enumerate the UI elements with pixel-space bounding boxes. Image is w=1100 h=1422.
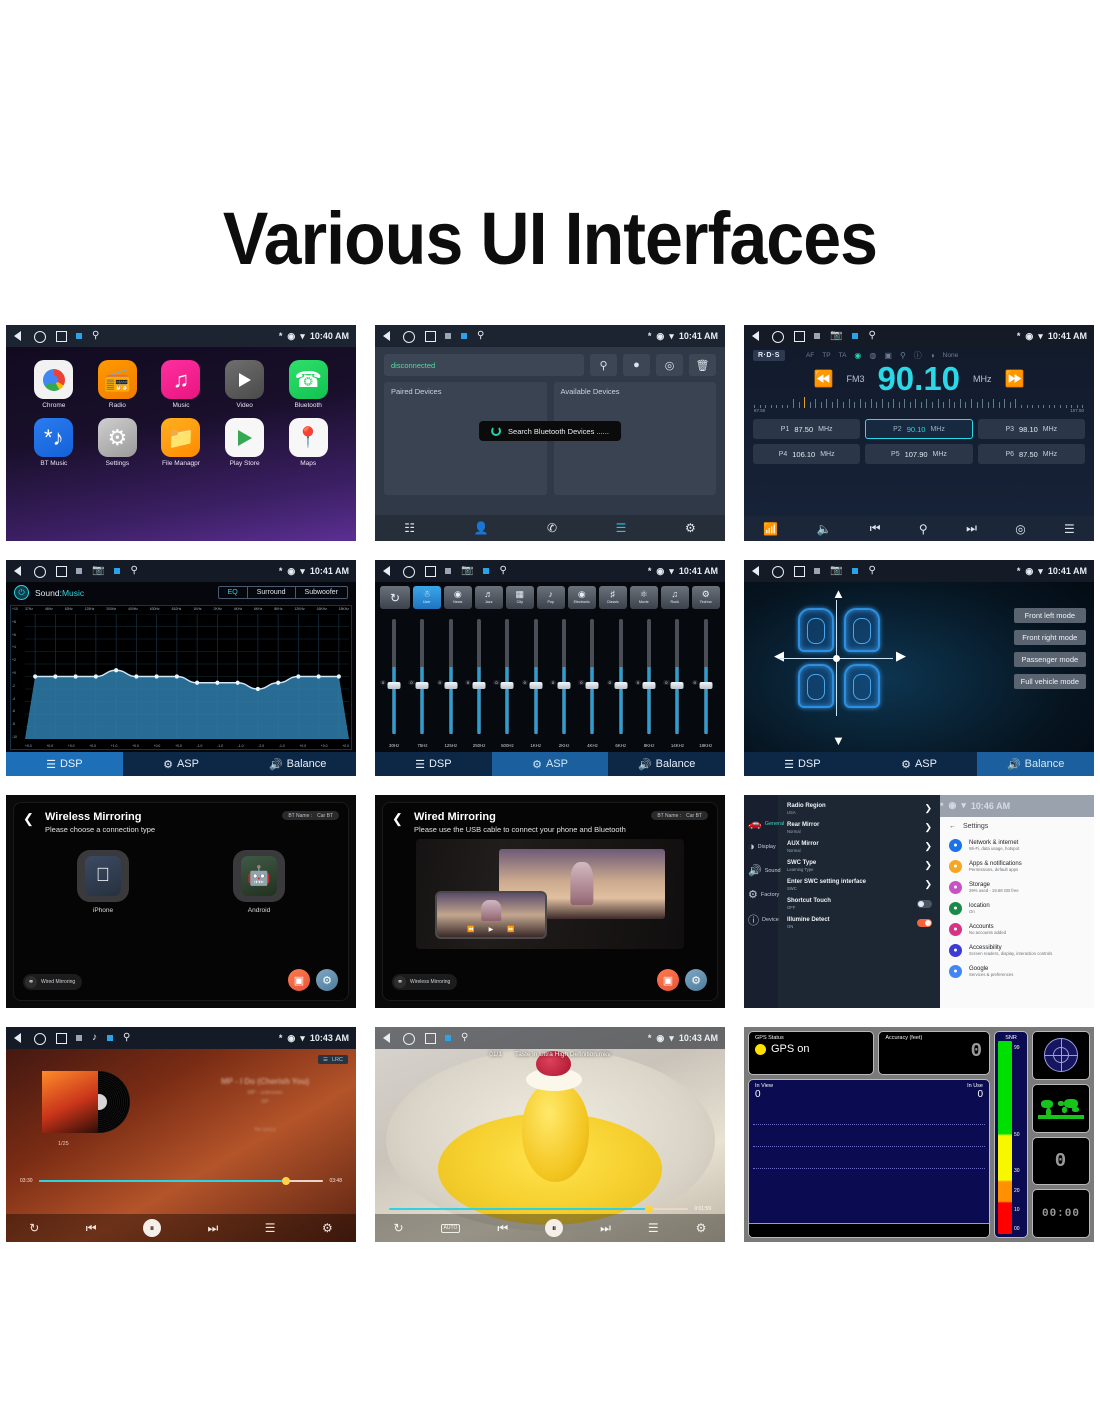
eq-curve-chart[interactable]: +10+8+6+4+2+0-2-4-6-8-10 37Hz46Hz63Hz125… — [10, 605, 352, 750]
switch-to-wireless-chip[interactable]: ⚭ Wireless Mirroring — [392, 974, 457, 990]
home-icon[interactable] — [772, 331, 783, 342]
app-bt-music[interactable]: *♪ BT Music — [22, 418, 86, 467]
bt-music-icon[interactable]: ☰ — [616, 521, 627, 535]
sound-tabbar[interactable]: ☰DSP ⚙ASP 🔊Balance — [6, 752, 356, 776]
tuning-dial[interactable]: 87.50 107.50 — [754, 397, 1084, 416]
android-settings-item[interactable]: ●AccessibilityScreen readers, display, i… — [940, 940, 1094, 961]
seat-rear-left[interactable] — [798, 664, 834, 708]
preset-p6[interactable]: P6 87.50 MHz — [978, 444, 1085, 464]
recents-icon[interactable] — [55, 331, 66, 342]
music-seek-bar[interactable]: 03:30 03:48 — [6, 1178, 356, 1184]
settings-gear-icon[interactable]: ⚙ — [316, 969, 338, 991]
playlist-icon[interactable]: ☰ — [265, 1221, 276, 1235]
home-icon[interactable] — [34, 1033, 45, 1044]
preset-p3[interactable]: P3 98.10 MHz — [978, 419, 1085, 439]
gps-status-value: GPS on — [771, 1043, 810, 1055]
recents-icon[interactable] — [424, 566, 435, 577]
slider-knob[interactable] — [699, 682, 712, 689]
storage-icon — [107, 1035, 113, 1041]
band-value: +0.0 — [25, 744, 32, 748]
tab-label: Balance — [656, 758, 696, 770]
eq-mode-buttons[interactable]: EQ Surround Subwoofer — [218, 586, 348, 599]
rail-item-device[interactable]: ⓘDevice — [744, 912, 779, 928]
reset-icon[interactable]: ↻ — [380, 586, 410, 609]
lrc-toggle[interactable]: ☰ LRC — [318, 1055, 348, 1064]
dial-tick — [854, 402, 855, 408]
preset-p2[interactable]: P2 90.10 MHz — [865, 419, 972, 439]
call-log-icon[interactable]: ✆ — [547, 521, 557, 535]
track-album: MP — [190, 1099, 340, 1105]
back-arrow-icon[interactable]: ← — [949, 823, 956, 830]
settings-row[interactable]: Rear MirrorNormal❯ — [778, 818, 940, 837]
home-icon[interactable] — [34, 566, 45, 577]
android-settings-item[interactable]: ●Network & internetWi-Fi, data usage, ho… — [940, 835, 1094, 856]
settings-gear-icon[interactable]: ⚙ — [685, 969, 707, 991]
music-note-icon: ♪ — [92, 1033, 97, 1043]
preset-grid[interactable]: P1 87.50 MHz P2 90.10 MHz P3 98.10 MHz — [744, 416, 1094, 464]
seek-up-icon[interactable]: ⏩ — [1005, 369, 1025, 389]
rds-as-icon[interactable]: ◍ — [869, 351, 876, 360]
home-icon[interactable] — [403, 566, 414, 577]
equalizer-sliders[interactable]: 030Hz075Hz0125Hz0250Hz0500Hz01KHz02KHz04… — [375, 613, 725, 752]
satellite-count-box[interactable]: 0 — [1032, 1137, 1090, 1186]
rds-eon-icon[interactable]: ◑ — [930, 351, 935, 360]
progress-knob[interactable] — [282, 1177, 290, 1185]
back-icon[interactable] — [382, 566, 393, 577]
camera-icon: 📷 — [461, 566, 473, 576]
prev-icon[interactable]: ⏮ — [86, 1221, 97, 1236]
preset-electronic[interactable]: ◉Electronic — [568, 586, 597, 609]
rail-item-display[interactable]: ◑Display — [744, 841, 776, 853]
android-settings-item[interactable]: ●locationOn — [940, 898, 1094, 919]
preset-techno[interactable]: ⚙Techno — [692, 586, 721, 609]
app-file-manager[interactable]: 📁 File Managpr — [149, 418, 213, 467]
seek-down-icon[interactable]: ⏪ — [814, 369, 834, 389]
switch-to-wired-chip[interactable]: ⚭ Wired Mirroring — [23, 974, 82, 990]
panel-video-player[interactable]: ⚲ * ◉ ▾ 10:43 AM 01/1 Taste in Ultra Hig… — [375, 1027, 725, 1242]
panel-gps-status[interactable]: GPS Status GPS on Accuracy (feet) 0 In V… — [744, 1027, 1094, 1242]
dial-max-label: 107.50 — [1070, 408, 1084, 413]
rail-item-factory[interactable]: ⚙Factory — [744, 888, 779, 901]
mode-buttons[interactable]: Front left mode Front right mode Passeng… — [1014, 608, 1086, 689]
item-title: Storage — [969, 882, 1019, 888]
item-subtitle: 29% used - 19.68 GB free — [969, 888, 1019, 893]
preset-p4[interactable]: P4 106.10 MHz — [753, 444, 860, 464]
slider-fill — [563, 667, 566, 735]
tab-dsp[interactable]: ☰DSP — [6, 752, 123, 776]
progress-track[interactable] — [389, 1208, 688, 1210]
settings-row[interactable]: Radio RegionUSA❯ — [778, 799, 940, 818]
music-toolbar[interactable]: ↻ ⏮ ⏸ ⏭ ☰ ⚙ — [6, 1214, 356, 1242]
gain-tick: +0 — [12, 671, 18, 675]
choice-label: Android — [248, 907, 270, 914]
pop-icon: ♪ — [549, 590, 554, 599]
arrow-up-icon[interactable]: ▲ — [832, 586, 845, 601]
chevron-right-icon[interactable]: ❯ — [924, 803, 932, 814]
panel-wireless-mirroring[interactable]: ❮ Wireless Mirroring Please choose a con… — [6, 795, 356, 1008]
settings-row[interactable]: SWC TypeLearning Type❯ — [778, 856, 940, 875]
subwoofer-button[interactable]: Subwoofer — [296, 587, 347, 598]
balance-point[interactable] — [833, 655, 840, 662]
dial-tick — [910, 402, 911, 408]
status-bar-dsp: 📷 ⚲ * ◉ ▾ 10:41 AM — [6, 560, 356, 582]
storage-icon — [852, 333, 858, 339]
eq-slider[interactable]: 075Hz — [409, 617, 435, 752]
arrow-left-icon[interactable]: ◀ — [774, 648, 784, 664]
volume-icon[interactable]: 🔈 — [816, 522, 831, 536]
time-elapsed: 03:30 — [20, 1178, 33, 1184]
seat-diagram[interactable] — [798, 608, 882, 710]
search-icon[interactable]: ⚲ — [590, 354, 617, 376]
back-chevron-icon[interactable]: ❮ — [392, 811, 403, 827]
world-map-box[interactable] — [1032, 1084, 1090, 1133]
slider-knob[interactable] — [416, 682, 429, 689]
slider-knob[interactable] — [614, 682, 627, 689]
preset-movie[interactable]: ⚛Movie — [630, 586, 659, 609]
panel-wired-mirroring[interactable]: ❮ Wired Mirroring Please use the USB cab… — [375, 795, 725, 1008]
rds-search-icon[interactable]: ⚲ — [900, 351, 906, 360]
eq-slider[interactable]: 014KHz — [664, 617, 690, 752]
eq-slider[interactable]: 0250Hz — [466, 617, 492, 752]
chevron-right-icon[interactable]: ❯ — [924, 822, 932, 833]
eq-slider[interactable]: 01KHz — [523, 617, 549, 752]
preset-label: Classic — [607, 599, 619, 605]
eq-slider[interactable]: 02KHz — [551, 617, 577, 752]
tab-asp[interactable]: ⚙ASP — [492, 752, 609, 776]
settings-icon[interactable]: ⚙ — [685, 521, 696, 535]
chevron-right-icon[interactable]: ❯ — [924, 860, 932, 871]
settings-row[interactable]: Illumine DetectON — [778, 913, 940, 932]
app-bluetooth[interactable]: ☎ Bluetooth — [276, 360, 340, 409]
sound-tabbar[interactable]: ☰DSP ⚙ASP 🔊Balance — [744, 752, 1094, 776]
eq-slider[interactable]: 0500Hz — [494, 617, 520, 752]
gps-accuracy-value: 0 — [885, 1040, 983, 1062]
tab-dsp[interactable]: ☰DSP — [375, 752, 492, 776]
progress-knob[interactable] — [645, 1205, 653, 1213]
android-settings-item[interactable]: ●Apps & notificationsPermissions, defaul… — [940, 856, 1094, 877]
recents-icon[interactable] — [424, 331, 435, 342]
band-label[interactable]: FM3 — [846, 374, 864, 384]
eq-icon[interactable]: ⚙ — [322, 1221, 333, 1235]
eq-icon[interactable]: ⚙ — [696, 1221, 707, 1235]
video-index: 01/1 — [489, 1051, 502, 1058]
preset-jazz[interactable]: ♬Jazz — [475, 586, 504, 609]
dialpad-icon[interactable]: ☷ — [404, 521, 415, 535]
item-title: Apps & notifications — [969, 861, 1022, 867]
dial-tick — [787, 405, 788, 408]
slider-knob[interactable] — [444, 682, 457, 689]
panel-home-launcher[interactable]: ⚲ * ◉ ▾ 10:40 AM Chrome 📻 — [6, 325, 356, 541]
home-icon[interactable] — [403, 1033, 414, 1044]
preset-city[interactable]: ▦City — [506, 586, 535, 609]
panel-dsp[interactable]: 📷 ⚲ * ◉ ▾ 10:41 AM ⏻ Sound:Music — [6, 560, 356, 776]
android-settings-header[interactable]: ← Settings — [940, 817, 1094, 835]
eq-slider[interactable]: 04KHz — [579, 617, 605, 752]
page-subtitle: Please choose a connection type — [45, 825, 337, 834]
slider-fill — [648, 667, 651, 735]
info-icon: ⓘ — [748, 912, 759, 928]
freq-tick: 8KHz — [274, 607, 282, 611]
panel-bluetooth[interactable]: ⚲ * ◉ ▾ 10:41 AM disconnected ⚲ ● ◎ — [375, 325, 725, 541]
recents-icon[interactable] — [424, 1033, 435, 1044]
tab-balance[interactable]: 🔊Balance — [977, 752, 1094, 776]
seat-front-left[interactable] — [798, 608, 834, 652]
app-radio[interactable]: 📻 Radio — [86, 360, 150, 409]
progress-track[interactable] — [39, 1180, 324, 1182]
preset-label: Movie — [639, 599, 649, 605]
recents-icon[interactable] — [793, 331, 804, 342]
rds-st-icon[interactable]: ▣ — [884, 351, 892, 360]
clock-label: 10:43 AM — [679, 1033, 718, 1043]
preset-classic[interactable]: ♯Classic — [599, 586, 628, 609]
back-icon[interactable] — [13, 1033, 24, 1044]
rds-toolbar-icon[interactable]: 📶 — [763, 522, 778, 536]
row-subtitle: Learning Type — [787, 867, 924, 872]
eq-slider[interactable]: 0125Hz — [438, 617, 464, 752]
seat-front-right[interactable] — [844, 608, 880, 652]
panel-balance[interactable]: 📷 ⚲ * ◉ ▾ 10:41 AM ▲ ▼ ◀ ▶ — [744, 560, 1094, 776]
prev-icon[interactable]: ⏮ — [870, 521, 881, 536]
sound-tabbar[interactable]: ☰DSP ⚙ASP 🔊Balance — [375, 752, 725, 776]
video-seek-bar[interactable]: 0:01:59 — [375, 1206, 725, 1214]
arrow-down-icon[interactable]: ▼ — [832, 733, 845, 748]
home-icon[interactable] — [403, 331, 414, 342]
clock-label: 10:41 AM — [1048, 331, 1087, 341]
repeat-icon[interactable]: ↻ — [393, 1221, 403, 1235]
home-icon[interactable] — [772, 566, 783, 577]
track-title: MP - I Do (Cherish You) — [190, 1077, 340, 1086]
usb-icon: ⚲ — [92, 331, 99, 341]
arrow-right-icon[interactable]: ▶ — [896, 648, 906, 664]
android-settings-list[interactable]: ●Network & internetWi-Fi, data usage, ho… — [940, 835, 1094, 982]
gps-clock-value: 00:00 — [1042, 1208, 1080, 1220]
eq-icon[interactable]: ☰ — [1064, 522, 1075, 536]
nav-buttons[interactable]: ⚲ — [13, 331, 99, 342]
next-icon[interactable]: ⏭ — [600, 1221, 611, 1236]
unpair-icon[interactable]: ◎ — [656, 354, 683, 376]
settings-list[interactable]: Radio RegionUSA❯Rear MirrorNormal❯AUX Mi… — [778, 795, 940, 1008]
lyric-line: No lyrics — [190, 1127, 340, 1133]
gps-clock-box[interactable]: 00:00 — [1032, 1189, 1090, 1238]
storage-icon — [852, 568, 858, 574]
sky-view-box[interactable] — [1032, 1031, 1090, 1080]
radio-toolbar[interactable]: 📶 🔈 ⏮ ⚲ ⏭ ◎ ☰ — [744, 516, 1094, 541]
settings-row[interactable]: AUX MirrorNormal❯ — [778, 837, 940, 856]
repeat-icon[interactable]: ↻ — [29, 1221, 39, 1235]
city-icon: ▦ — [515, 590, 524, 599]
preset-p1[interactable]: P1 87.50 MHz — [753, 419, 860, 439]
slider-knob[interactable] — [388, 682, 401, 689]
tab-asp[interactable]: ⚙ASP — [123, 752, 240, 776]
world-map-icon — [1038, 1096, 1084, 1120]
clock-label: 10:41 AM — [310, 566, 349, 576]
tab-balance[interactable]: 🔊Balance — [608, 752, 725, 776]
eq-slider[interactable]: 030Hz — [381, 617, 407, 752]
panel-music-player[interactable]: ♪ ⚲ * ◉ ▾ 10:43 AM ☰ LRC — [6, 1027, 356, 1242]
rds-ta[interactable]: TA — [839, 352, 847, 359]
news-icon: ◉ — [454, 590, 462, 599]
recents-icon[interactable] — [793, 566, 804, 577]
choice-iphone[interactable]:  iPhone — [77, 850, 129, 914]
bluetooth-tabbar[interactable]: ☷ 👤 ✆ ☰ ⚙ — [375, 515, 725, 541]
preset-rock[interactable]: ♫Rock — [661, 586, 690, 609]
panel-asp[interactable]: 📷 ⚲ * ◉ ▾ 10:41 AM ↻ ☃User ◉News ♬J — [375, 560, 725, 776]
eq-slider[interactable]: 08KHz — [636, 617, 662, 752]
recents-icon[interactable] — [55, 1033, 66, 1044]
chevron-right-icon[interactable]: ❯ — [924, 841, 932, 852]
mode-passenger[interactable]: Passenger mode — [1014, 652, 1086, 667]
eq-slider[interactable]: 06KHz — [608, 617, 634, 752]
app-settings[interactable]: ⚙ Settings — [86, 418, 150, 467]
pause-icon[interactable]: ⏸ — [545, 1219, 563, 1237]
seat-rear-right[interactable] — [844, 664, 880, 708]
preset-user[interactable]: ☃User — [413, 586, 442, 609]
item-title: location — [969, 903, 990, 909]
toast-text: Search Bluetooth Devices ...... — [508, 427, 609, 436]
bluetooth-icon: * — [648, 331, 652, 341]
settings-item-icon: ● — [949, 923, 962, 936]
settings-row[interactable]: Shortcut TouchOFF — [778, 894, 940, 913]
prev-icon[interactable]: ⏮ — [497, 1221, 508, 1236]
apple-icon:  — [85, 856, 121, 896]
dial-min-label: 87.50 — [754, 408, 765, 413]
maps-pin-icon: 📍 — [289, 418, 328, 457]
item-title: Accounts — [969, 924, 1006, 930]
slider-knob[interactable] — [529, 682, 542, 689]
app-play-store[interactable]: Play Store — [213, 418, 277, 467]
toggle-switch[interactable] — [917, 900, 932, 908]
slider-knob[interactable] — [558, 682, 571, 689]
slider-knob[interactable] — [643, 682, 656, 689]
bluetooth-icon: * — [648, 566, 652, 576]
freq-tick: 1KHz — [193, 607, 201, 611]
auto-icon[interactable]: AUTO — [441, 1224, 461, 1233]
slider-knob[interactable] — [586, 682, 599, 689]
playlist-icon[interactable]: ☰ — [648, 1221, 659, 1235]
back-icon[interactable] — [751, 566, 762, 577]
rds-af[interactable]: AF — [806, 352, 814, 359]
antenna-icon[interactable]: ◎ — [1015, 522, 1025, 536]
panel-settings[interactable]: 🚗General ◑Display 🔊Sound ⚙Factory ⓘDevic… — [744, 795, 1094, 1008]
lrc-label: LRC — [332, 1057, 343, 1063]
home-icon[interactable] — [34, 331, 45, 342]
app-chrome[interactable]: Chrome — [22, 360, 86, 409]
gain-tick: +8 — [12, 620, 18, 624]
slider-knob[interactable] — [671, 682, 684, 689]
chevron-right-icon[interactable]: ❯ — [924, 879, 932, 890]
tab-dsp[interactable]: ☰DSP — [744, 752, 861, 776]
preset-pop[interactable]: ♪Pop — [537, 586, 566, 609]
screen-share-icon[interactable]: ▣ — [657, 969, 679, 991]
preset-news[interactable]: ◉News — [444, 586, 473, 609]
dial-tick — [943, 402, 944, 408]
pair-icon[interactable]: ● — [623, 354, 650, 376]
back-chevron-icon[interactable]: ❮ — [23, 811, 34, 827]
eq-slider[interactable]: 018KHz — [693, 617, 719, 752]
rds-pty-icon[interactable]: ◉ — [854, 351, 861, 360]
rds-tp[interactable]: TP — [822, 352, 830, 359]
eq-button[interactable]: EQ — [219, 587, 248, 598]
back-icon[interactable] — [13, 331, 24, 342]
next-icon[interactable]: ⏭ — [966, 521, 977, 536]
gain-tick: +4 — [12, 645, 18, 649]
back-icon[interactable] — [13, 566, 24, 577]
power-icon[interactable]: ⏻ — [14, 585, 29, 600]
band-value: +0.0 — [46, 744, 53, 748]
dial-tick — [938, 399, 939, 408]
preset-freq: 107.90 — [905, 450, 928, 459]
screen-share-icon[interactable]: ▣ — [288, 969, 310, 991]
slider-knob[interactable] — [473, 682, 486, 689]
scan-icon[interactable]: ⚲ — [919, 522, 928, 536]
tab-balance[interactable]: 🔊Balance — [239, 752, 356, 776]
trash-icon[interactable]: 🗑 — [689, 354, 716, 376]
back-icon[interactable] — [382, 331, 393, 342]
slider-fill — [704, 667, 707, 735]
rail-item-sound[interactable]: 🔊Sound — [744, 864, 781, 877]
app-music[interactable]: ♫ Music — [149, 360, 213, 409]
toggle-switch[interactable] — [917, 919, 932, 927]
slider-label: 18KHz — [699, 743, 712, 748]
jazz-icon: ♬ — [484, 590, 493, 599]
pause-icon[interactable]: ⏸ — [143, 1219, 161, 1237]
paired-devices-label: Paired Devices — [391, 387, 441, 396]
back-icon[interactable] — [382, 1033, 393, 1044]
video-toolbar[interactable]: ↻ AUTO ⏮ ⏸ ⏭ ☰ ⚙ — [375, 1214, 725, 1242]
dial-tick — [960, 399, 961, 408]
panel-radio[interactable]: 📷 ⚲ * ◉ ▾ 10:41 AM R·D·S AF TP — [744, 325, 1094, 541]
item-title: Accessibility — [969, 945, 1052, 951]
tab-asp[interactable]: ⚙ASP — [861, 752, 978, 776]
play-triangle-icon — [225, 360, 264, 399]
snr-tick: 20 — [1014, 1188, 1020, 1194]
next-icon: ⏩ — [507, 926, 514, 933]
play-icon: ▶ — [489, 926, 494, 933]
android-settings-item[interactable]: ●GoogleServices & preferences — [940, 961, 1094, 982]
mode-full-vehicle[interactable]: Full vehicle mode — [1014, 674, 1086, 689]
slider-fill — [393, 667, 396, 735]
dial-tick — [915, 399, 916, 408]
android-settings-item[interactable]: ●Storage29% used - 19.68 GB free — [940, 877, 1094, 898]
band-value: +0.0 — [321, 744, 328, 748]
wifi-icon: ▾ — [300, 1033, 305, 1044]
preset-freq: 98.10 — [1019, 425, 1038, 434]
settings-rail[interactable]: 🚗General ◑Display 🔊Sound ⚙Factory ⓘDevic… — [744, 795, 778, 1008]
settings-row[interactable]: Enter SWC setting interfaceSWC❯ — [778, 875, 940, 894]
location-icon: ◉ — [287, 1033, 295, 1044]
contacts-icon[interactable]: 👤 — [474, 521, 489, 535]
android-settings-item[interactable]: ●AccountsNo accounts added — [940, 919, 1094, 940]
row-title: Enter SWC setting interface — [787, 879, 924, 885]
app-maps[interactable]: 📍 Maps — [276, 418, 340, 467]
surround-button[interactable]: Surround — [248, 587, 296, 598]
back-icon[interactable] — [751, 331, 762, 342]
dial-tick — [1032, 405, 1033, 408]
app-video[interactable]: Video — [213, 360, 277, 409]
recents-icon[interactable] — [55, 566, 66, 577]
slider-label: 14KHz — [671, 743, 684, 748]
slider-label: 4KHz — [587, 743, 598, 748]
eq-preset-row[interactable]: ↻ ☃User ◉News ♬Jazz ▦City ♪Pop ◉Electron… — [375, 582, 725, 613]
choice-android[interactable]: 🤖 Android — [233, 850, 285, 914]
mode-front-right[interactable]: Front right mode — [1014, 630, 1086, 645]
app-grid[interactable]: Chrome 📻 Radio ♫ Music Video — [6, 347, 356, 467]
preset-p5[interactable]: P5 107.90 MHz — [865, 444, 972, 464]
location-icon: ◉ — [949, 800, 957, 811]
mode-front-left[interactable]: Front left mode — [1014, 608, 1086, 623]
next-icon[interactable]: ⏭ — [207, 1221, 218, 1236]
slider-knob[interactable] — [501, 682, 514, 689]
